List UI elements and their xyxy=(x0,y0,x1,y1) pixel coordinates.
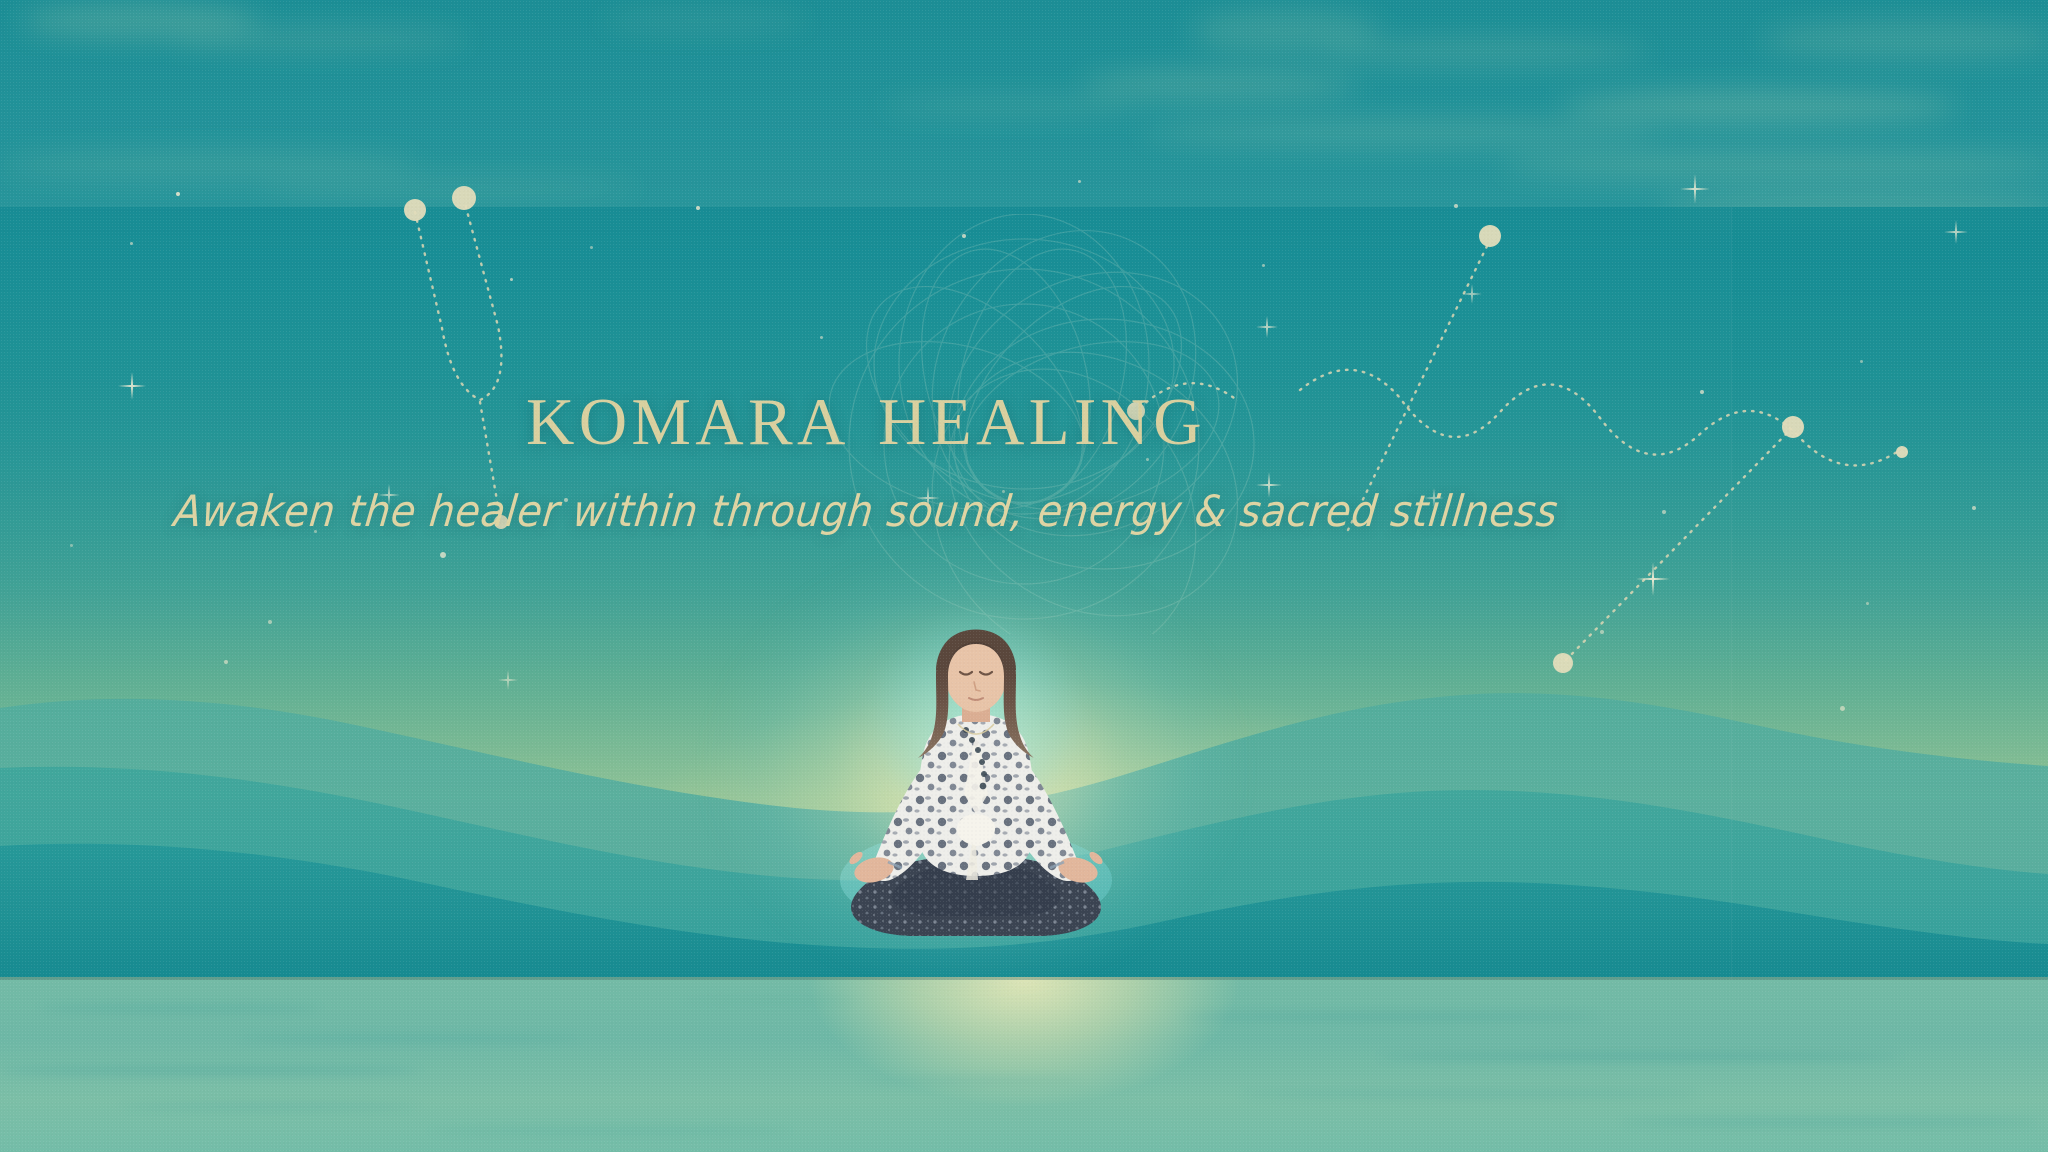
hero-banner: Komara Healing Awaken the healer within … xyxy=(0,0,2048,1152)
brand-title: Komara Healing xyxy=(0,364,1732,460)
brand-title-wrap: Komara Healing xyxy=(0,364,1732,460)
meditating-figure xyxy=(826,618,1126,948)
